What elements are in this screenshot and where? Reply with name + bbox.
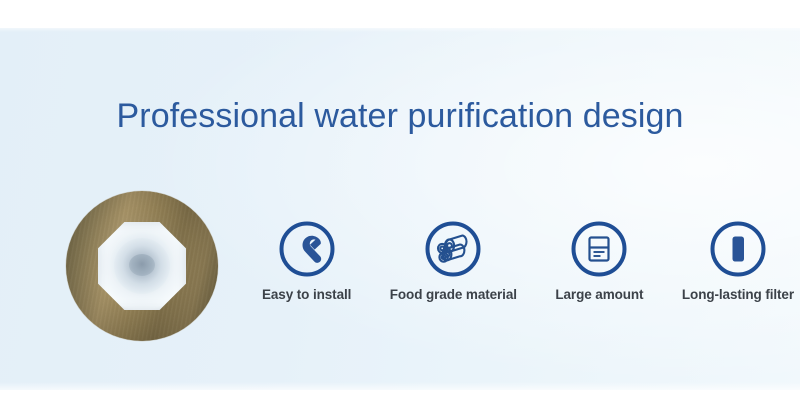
product-image (66, 191, 218, 341)
feature-list: Easy to install Food grade mater (262, 220, 794, 302)
product-image-vignette (66, 191, 218, 341)
feature-label-easy-to-install: Easy to install (262, 287, 351, 302)
wrench-icon (278, 220, 336, 278)
feature-item-food-grade-material: Food grade material (390, 220, 517, 302)
feature-item-long-lasting-filter: Long-lasting filter (682, 220, 794, 302)
feature-label-long-lasting-filter: Long-lasting filter (682, 287, 794, 302)
feature-label-food-grade-material: Food grade material (390, 287, 517, 302)
page-title: Professional water purification design (0, 97, 800, 136)
bottom-band-fade (0, 382, 800, 394)
feature-label-large-amount: Large amount (555, 287, 643, 302)
bottom-white-band (0, 390, 800, 417)
filter-cartridge-icon (709, 220, 767, 278)
promo-banner: Professional water purification design E… (0, 0, 800, 417)
container-icon (570, 220, 628, 278)
feature-item-large-amount: Large amount (555, 220, 643, 302)
top-band-fade (0, 24, 800, 32)
feature-item-easy-to-install: Easy to install (262, 220, 351, 302)
pipes-icon (424, 220, 482, 278)
